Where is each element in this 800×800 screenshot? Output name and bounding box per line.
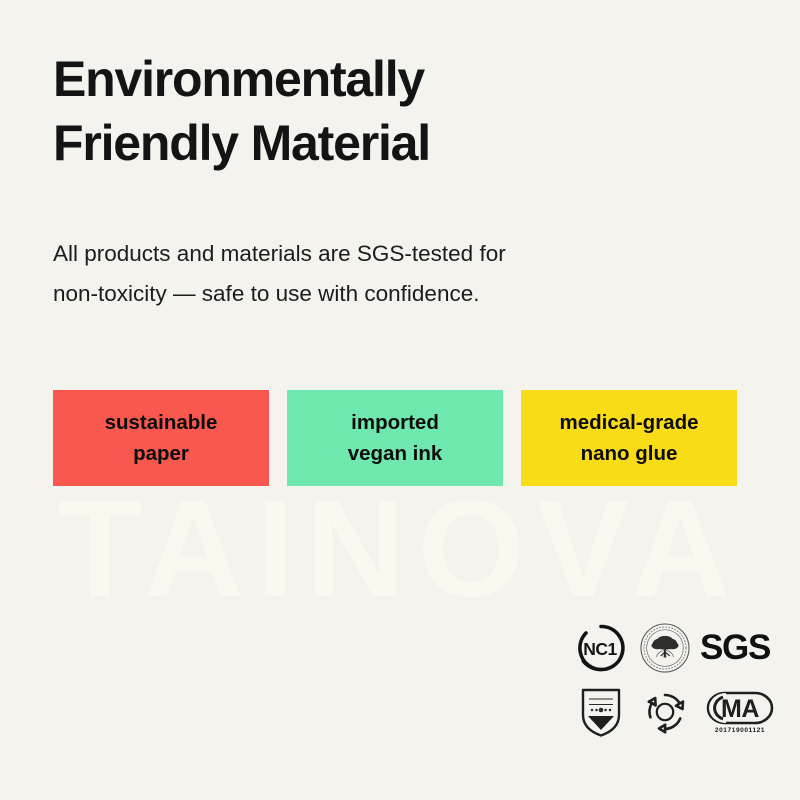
forest-stewardship-seal-icon [632,619,698,677]
page-subtitle: All products and materials are SGS-teste… [53,234,673,314]
page-title-line-1: Environmentally [53,51,424,107]
chip-label-line-2: vegan ink [348,438,443,469]
nc1-certification-icon: NC1 [570,619,632,677]
sgs-logo-text: SGS [700,628,770,667]
svg-text:NC1: NC1 [583,639,617,659]
recycling-symbol-icon [632,682,698,742]
chip-imported-vegan-ink: imported vegan ink [287,390,503,486]
page-subtitle-line-2: non-toxicity — safe to use with confiden… [53,281,479,306]
page-title: Environmentally Friendly Material [53,48,693,175]
brand-watermark: TAINOVA [0,480,800,618]
cma-certification-icon: MA 201719001121 [698,682,782,742]
chip-medical-grade-nano-glue: medical-grade nano glue [521,390,737,486]
svg-text:MA: MA [721,695,759,723]
material-chip-group: sustainable paper imported vegan ink med… [53,390,737,486]
shield-certification-icon [570,682,632,742]
chip-label-line-1: imported [351,407,439,438]
certification-badges: NC1 [570,616,782,744]
certification-row-1: NC1 [570,616,782,680]
certification-row-2: MA 201719001121 [570,680,782,744]
sgs-logo-icon: SGS [698,619,778,677]
chip-label-line-2: nano glue [581,438,678,469]
page-subtitle-line-1: All products and materials are SGS-teste… [53,241,506,266]
page-title-line-2: Friendly Material [53,115,430,171]
chip-label-line-1: medical-grade [560,407,699,438]
chip-label-line-2: paper [133,438,189,469]
chip-label-line-1: sustainable [105,407,218,438]
chip-sustainable-paper: sustainable paper [53,390,269,486]
cma-certification-number: 201719001121 [715,727,765,734]
